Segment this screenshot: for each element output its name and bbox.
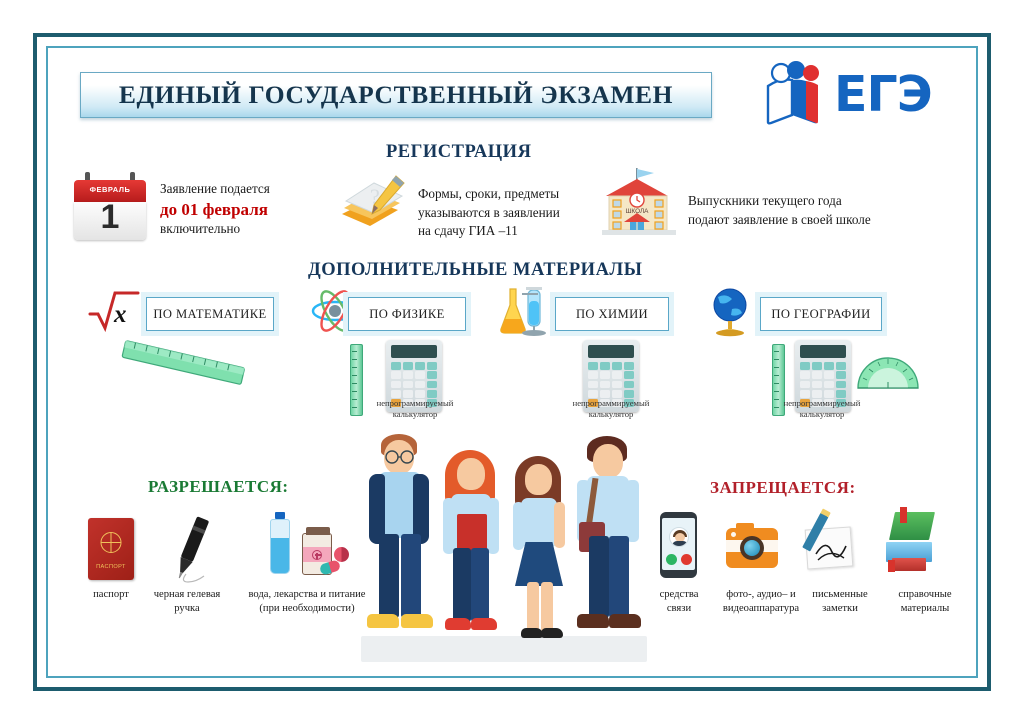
four-students-illustration (355, 420, 655, 662)
registration-text-deadline: Заявление подается до 01 февраля включит… (160, 180, 270, 239)
water-bottle-icon (268, 512, 292, 574)
forbidden-heading: ЗАПРЕЩАЕТСЯ: (710, 478, 856, 498)
student-figure-2 (433, 442, 507, 648)
camera-icon (726, 528, 778, 568)
calculator-caption: непрограммируемый калькулятор (762, 398, 882, 420)
notes-caption-line-2: заметки (798, 602, 882, 616)
item-caption-pen: черная гелевая ручка (140, 588, 234, 616)
subject-label-math: ПО МАТЕМАТИКЕ (153, 307, 266, 322)
protractor-icon (856, 352, 920, 397)
page-title: ЕДИНЫЙ ГОСУДАРСТВЕННЫЙ ЭКЗАМЕН (119, 80, 673, 110)
calendar-day-number: 1 (74, 198, 146, 237)
school-line-1: Выпускники текущего года (688, 192, 871, 211)
subject-label-chemistry: ПО ХИМИИ (576, 307, 648, 322)
square-root-x-icon: x (88, 290, 140, 337)
subject-box-math[interactable]: ПО МАТЕМАТИКЕ (146, 297, 274, 331)
subject-label-physics: ПО ФИЗИКЕ (369, 307, 444, 322)
item-caption-books: справочные материалы (880, 588, 970, 616)
ege-emblem-icon (762, 60, 842, 130)
gel-pen-icon (160, 512, 220, 593)
ege-logo-text: ЕГЭ (834, 66, 932, 123)
calendar-icon: ФЕВРАЛЬ 1 (74, 172, 146, 240)
notes-caption-line-1: письменные (798, 588, 882, 602)
passport-badge-label: ПАСПОРТ (88, 564, 134, 570)
forms-line-2: указываются в заявлении (418, 204, 560, 223)
poster-canvas: ЕДИНЫЙ ГОСУДАРСТВЕННЫЙ ЭКЗАМЕН ЕГЭ РЕГИС… (0, 0, 1024, 724)
globe-icon (706, 285, 754, 342)
materials-heading: ДОПОЛНИТЕЛЬНЫЕ МАТЕРИАЛЫ (308, 260, 642, 281)
school-icon: ШКОЛА (600, 166, 678, 242)
ege-logo: ЕГЭ (762, 60, 944, 130)
forms-line-1: Формы, сроки, предметы (418, 185, 560, 204)
student-figure-1 (361, 428, 439, 648)
deadline-line-1: Заявление подается (160, 181, 270, 196)
calendar-month-label: ФЕВРАЛЬ (74, 185, 146, 194)
subject-box-chemistry[interactable]: ПО ХИМИИ (555, 297, 669, 331)
passport-icon: ПАСПОРТ (88, 518, 134, 580)
pen-caption-line-2: ручка (140, 602, 234, 616)
paper-pencil-icon: ? (340, 170, 410, 240)
registration-heading: РЕГИСТРАЦИЯ (386, 142, 531, 163)
mobile-phone-icon (660, 512, 697, 578)
subject-box-physics[interactable]: ПО ФИЗИКЕ (348, 297, 466, 331)
item-caption-notes: письменные заметки (798, 588, 882, 616)
calculator-caption: непрограммируемый калькулятор (551, 398, 671, 420)
books-caption-line-2: материалы (880, 602, 970, 616)
deadline-highlight: до 01 февраля (160, 199, 270, 220)
deadline-line-3: включительно (160, 221, 240, 236)
flask-testtube-icon (492, 285, 548, 342)
pen-caption-line-1: черная гелевая (140, 588, 234, 602)
books-caption-line-1: справочные (880, 588, 970, 602)
calculator-caption: непрограммируемый калькулятор (355, 398, 475, 420)
registration-text-school: Выпускники текущего года подают заявлени… (688, 192, 871, 229)
subject-box-geography[interactable]: ПО ГЕОГРАФИИ (760, 297, 882, 331)
allowed-heading: РАЗРЕШАЕТСЯ: (148, 477, 289, 497)
svg-text:x: x (113, 301, 127, 328)
subject-label-geography: ПО ГЕОГРАФИИ (771, 307, 870, 322)
pill-round-icon (334, 547, 349, 562)
student-figure-4 (569, 432, 647, 648)
poster-title-box: ЕДИНЫЙ ГОСУДАРСТВЕННЫЙ ЭКЗАМЕН (80, 72, 712, 118)
forms-line-3: на сдачу ГИА –11 (418, 222, 560, 241)
registration-text-forms: Формы, сроки, предметы указываются в зая… (418, 185, 560, 241)
school-line-2: подают заявление в своей школе (688, 211, 871, 230)
student-figure-3 (501, 450, 575, 648)
ruler-icon (118, 340, 248, 393)
